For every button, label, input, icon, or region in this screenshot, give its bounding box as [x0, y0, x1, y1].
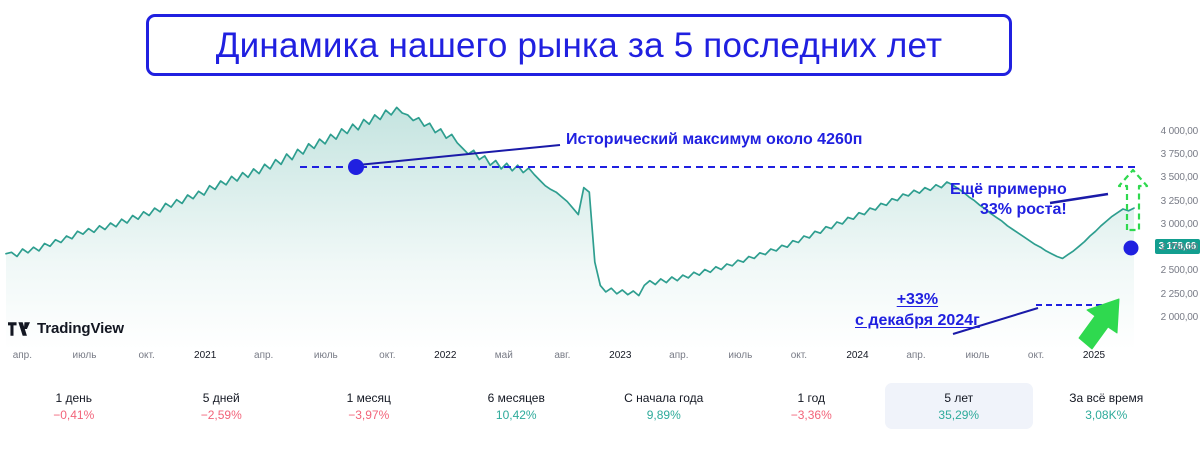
period-label: 1 день [55, 391, 92, 405]
december-growth-line2: с декабря 2024г [855, 311, 980, 332]
period-stat-4[interactable]: С начала года9,89% [590, 383, 738, 429]
period-value: 10,42% [496, 408, 537, 422]
period-stat-1[interactable]: 5 дней−2,59% [148, 383, 296, 429]
historical-max-marker[interactable] [348, 159, 364, 175]
period-value: 35,29% [938, 408, 979, 422]
period-value: −3,97% [348, 408, 389, 422]
date-tick-апр: апр. [13, 350, 32, 361]
date-tick-апр: апр. [254, 350, 273, 361]
price-tick: 2 250,00 [1161, 289, 1198, 300]
period-label: 1 месяц [347, 391, 391, 405]
date-tick-окт: окт. [138, 350, 154, 361]
date-tick-окт: окт. [791, 350, 807, 361]
tradingview-logo: TradingView [8, 320, 124, 337]
period-label: За всё время [1069, 391, 1143, 405]
historical-max-annotation: Исторический максимум около 4260п [566, 131, 862, 149]
period-label: С начала года [624, 391, 703, 405]
period-stat-2[interactable]: 1 месяц−3,97% [295, 383, 443, 429]
period-value: −3,36% [791, 408, 832, 422]
period-value: −2,59% [201, 408, 242, 422]
price-tick: 3 250,00 [1161, 196, 1198, 207]
date-tick-июль: июль [728, 350, 752, 361]
screenshot-root: Динамика нашего рынка за 5 последних лет [0, 0, 1200, 449]
date-tick-2024: 2024 [846, 350, 868, 361]
period-value: −0,41% [53, 408, 94, 422]
page-title: Динамика нашего рынка за 5 последних лет [216, 28, 942, 63]
date-tick-окт: окт. [1028, 350, 1044, 361]
period-label: 1 год [797, 391, 825, 405]
period-value: 9,89% [647, 408, 681, 422]
price-tick: 4 000,00 [1161, 126, 1198, 137]
tradingview-logo-text: TradingView [37, 320, 124, 337]
date-tick-июль: июль [73, 350, 97, 361]
tradingview-logo-icon [8, 322, 30, 336]
price-tick: 2 500,00 [1161, 265, 1198, 276]
period-value: 3,08K% [1085, 408, 1127, 422]
price-tick: 2 750,00 [1161, 242, 1198, 253]
date-axis[interactable]: апр.июльокт.2021апр.июльокт.2022майавг.2… [0, 350, 1140, 370]
price-tick: 2 000,00 [1161, 312, 1198, 323]
period-stat-0[interactable]: 1 день−0,41% [0, 383, 148, 429]
date-tick-апр: апр. [906, 350, 925, 361]
period-stat-5[interactable]: 1 год−3,36% [738, 383, 886, 429]
period-label: 5 лет [944, 391, 973, 405]
december-growth-annotation: +33% с декабря 2024г [855, 290, 980, 332]
date-tick-окт: окт. [379, 350, 395, 361]
period-label: 5 дней [203, 391, 240, 405]
date-tick-апр: апр. [669, 350, 688, 361]
projected-growth-annotation: Ещё примерно 33% роста! [950, 180, 1067, 221]
page-title-box: Динамика нашего рынка за 5 последних лет [146, 14, 1012, 76]
price-tick: 3 500,00 [1161, 172, 1198, 183]
period-label: 6 месяцев [488, 391, 545, 405]
period-performance-bar[interactable]: 1 день−0,41%5 дней−2,59%1 месяц−3,97%6 м… [0, 383, 1180, 429]
period-stat-6[interactable]: 5 лет35,29% [885, 383, 1033, 429]
date-tick-2025: 2025 [1083, 350, 1105, 361]
date-tick-2022: 2022 [434, 350, 456, 361]
price-tick: 3 000,00 [1161, 219, 1198, 230]
projected-growth-line1: Ещё примерно [950, 180, 1067, 200]
date-tick-авг: авг. [554, 350, 570, 361]
date-tick-2023: 2023 [609, 350, 631, 361]
price-axis[interactable]: 3 178,66 4 000,003 750,003 500,003 250,0… [1140, 100, 1200, 350]
period-stat-7[interactable]: За всё время3,08K% [1033, 383, 1181, 429]
date-tick-июль: июль [314, 350, 338, 361]
price-tick: 3 750,00 [1161, 149, 1198, 160]
period-stat-3[interactable]: 6 месяцев10,42% [443, 383, 591, 429]
projected-growth-line2: 33% роста! [950, 200, 1067, 220]
current-price-marker[interactable] [1124, 241, 1139, 256]
december-growth-line1: +33% [855, 290, 980, 311]
date-tick-июль: июль [966, 350, 990, 361]
date-tick-2021: 2021 [194, 350, 216, 361]
date-tick-май: май [495, 350, 513, 361]
